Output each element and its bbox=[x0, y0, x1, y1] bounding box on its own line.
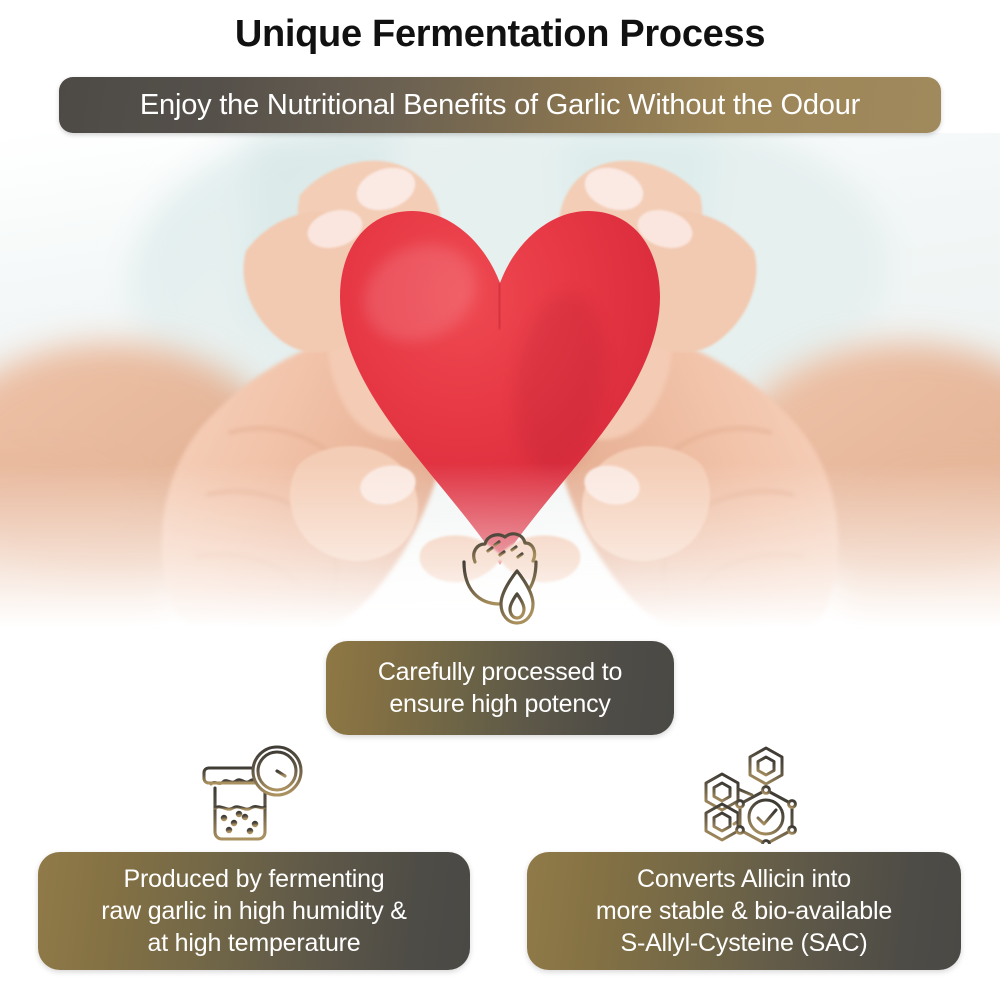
infographic-root: Unique Fermentation Process Enjoy the Nu… bbox=[0, 0, 1000, 1000]
pill-carefully-processed-text: Carefully processed to ensure high poten… bbox=[378, 656, 622, 720]
pill-produced-by-fermenting: Produced by fermenting raw garlic in hig… bbox=[38, 852, 470, 970]
page-title: Unique Fermentation Process bbox=[0, 14, 1000, 56]
pill-converts-allicin: Converts Allicin into more stable & bio-… bbox=[527, 852, 961, 970]
molecule-check-icon bbox=[700, 742, 820, 844]
pill-converts-allicin-text: Converts Allicin into more stable & bio-… bbox=[596, 863, 892, 959]
subtitle-banner-text: Enjoy the Nutritional Benefits of Garlic… bbox=[140, 89, 860, 122]
pill-carefully-processed: Carefully processed to ensure high poten… bbox=[326, 641, 674, 735]
fermentation-jar-clock-icon bbox=[193, 744, 307, 842]
pill-produced-by-fermenting-text: Produced by fermenting raw garlic in hig… bbox=[101, 863, 406, 959]
bowl-with-flame-icon bbox=[455, 524, 545, 626]
subtitle-banner: Enjoy the Nutritional Benefits of Garlic… bbox=[59, 77, 941, 133]
